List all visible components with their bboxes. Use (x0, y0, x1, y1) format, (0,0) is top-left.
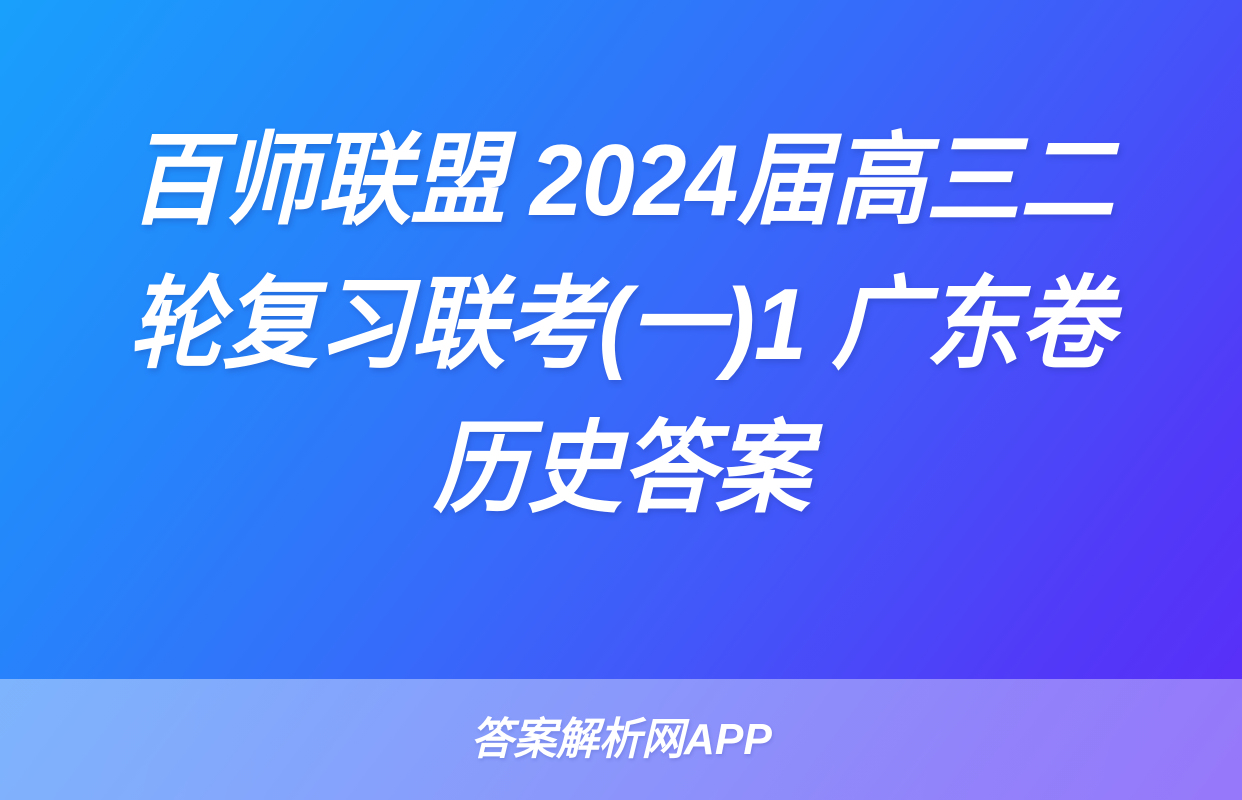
headline-block: 百师联盟 2024届高三二 轮复习联考(一)1 广东卷 历史答案 (0, 0, 1242, 679)
watermark-text: 答案解析网APP (470, 718, 771, 762)
poster-background: 百师联盟 2024届高三二 轮复习联考(一)1 广东卷 历史答案 答案解析网AP… (0, 0, 1242, 800)
title-line-3: 历史答案 (62, 397, 1181, 541)
watermark-band: 答案解析网APP (0, 679, 1242, 800)
title-line-1: 百师联盟 2024届高三二 (62, 109, 1181, 253)
title-line-2: 轮复习联考(一)1 广东卷 (62, 253, 1181, 397)
